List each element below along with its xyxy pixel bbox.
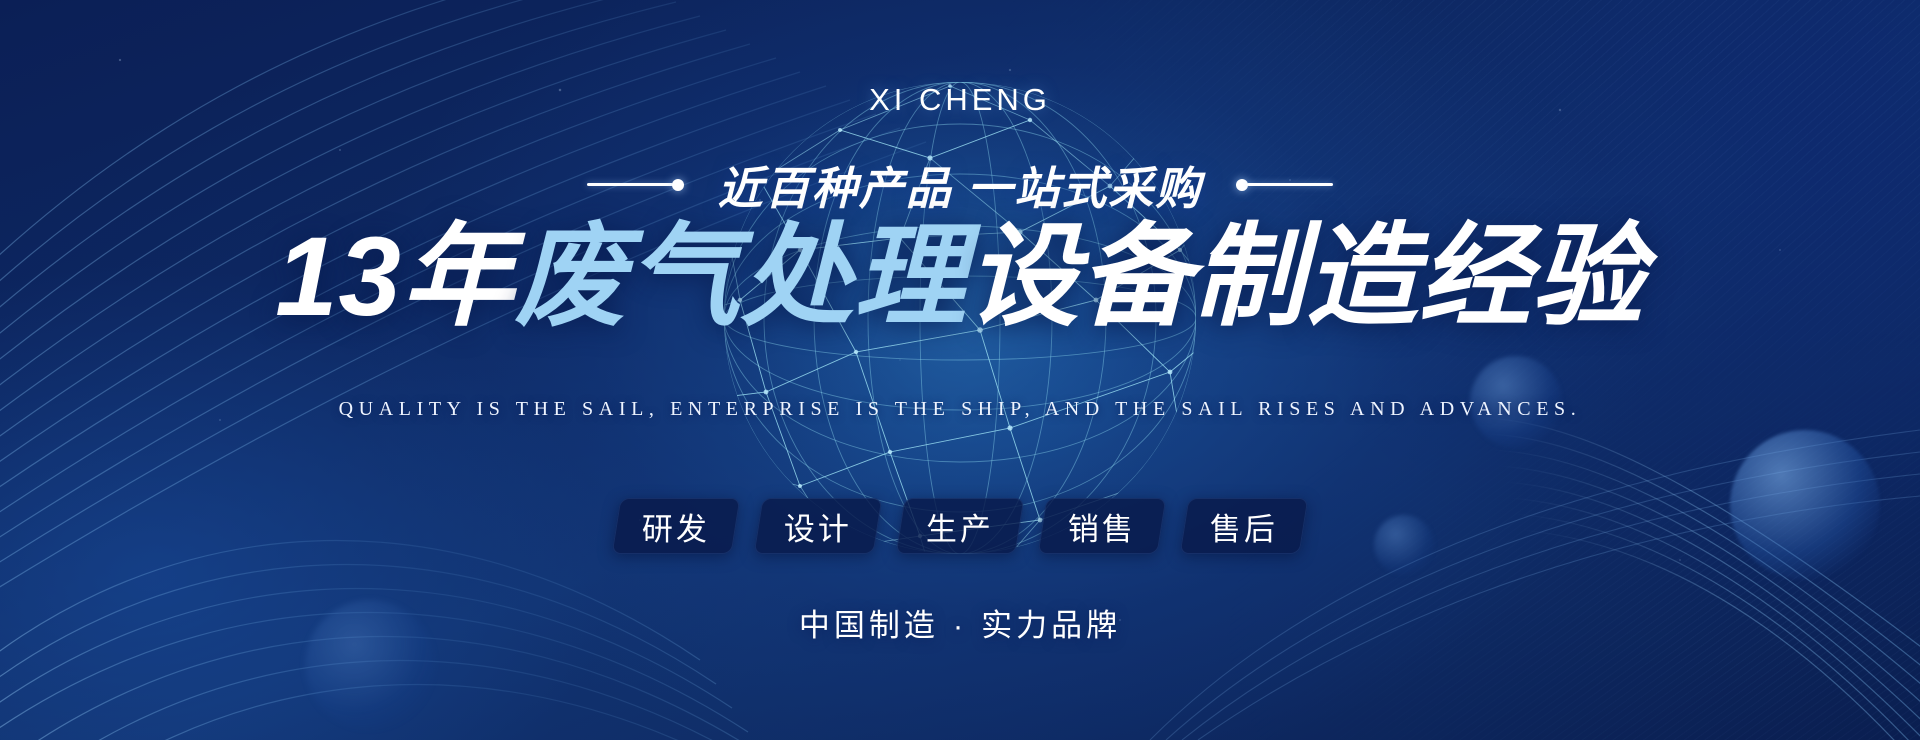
- ornament-left-bar: [587, 183, 673, 186]
- banner-content: XI CHENG 近百种产品 一站式采购 13年废气处理设备制造经验 QUALI…: [0, 0, 1920, 740]
- service-tag-list: 研发 设计 生产 销售 售后: [0, 498, 1920, 554]
- service-tag-label: 销售: [1068, 504, 1136, 549]
- service-tag-label: 设计: [784, 504, 852, 549]
- service-tag-production[interactable]: 生产: [896, 498, 1025, 554]
- service-tag-label: 售后: [1210, 504, 1278, 549]
- headline-part-years: 13年: [275, 214, 515, 339]
- headline-part-highlight: 废气处理: [515, 214, 967, 339]
- ornament-left: [587, 179, 684, 191]
- ornament-right-bar: [1247, 183, 1333, 186]
- service-tag-rd[interactable]: 研发: [612, 498, 741, 554]
- footer-separator-dot: ·: [939, 608, 981, 643]
- headline-part-tail: 设备制造经验: [967, 214, 1645, 339]
- ornament-right: [1236, 179, 1333, 191]
- service-tag-label: 生产: [926, 504, 994, 549]
- subtitle-row: 近百种产品 一站式采购: [0, 152, 1920, 217]
- headline: 13年废气处理设备制造经验: [0, 218, 1920, 336]
- ornament-left-dot: [672, 179, 684, 191]
- service-tag-label: 研发: [642, 504, 710, 549]
- footer-slogan-left: 中国制造: [799, 608, 939, 643]
- brand-name-en: XI CHENG: [0, 82, 1920, 118]
- footer-slogan: 中国制造·实力品牌: [0, 600, 1920, 645]
- footer-slogan-right: 实力品牌: [981, 608, 1121, 643]
- hero-banner: XI CHENG 近百种产品 一站式采购 13年废气处理设备制造经验 QUALI…: [0, 0, 1920, 740]
- service-tag-sales[interactable]: 销售: [1038, 498, 1167, 554]
- service-tag-design[interactable]: 设计: [754, 498, 883, 554]
- service-tag-aftersales[interactable]: 售后: [1180, 498, 1309, 554]
- tagline-en: QUALITY IS THE SAIL, ENTERPRISE IS THE S…: [0, 398, 1920, 421]
- subtitle-text: 近百种产品 一站式采购: [718, 152, 1203, 217]
